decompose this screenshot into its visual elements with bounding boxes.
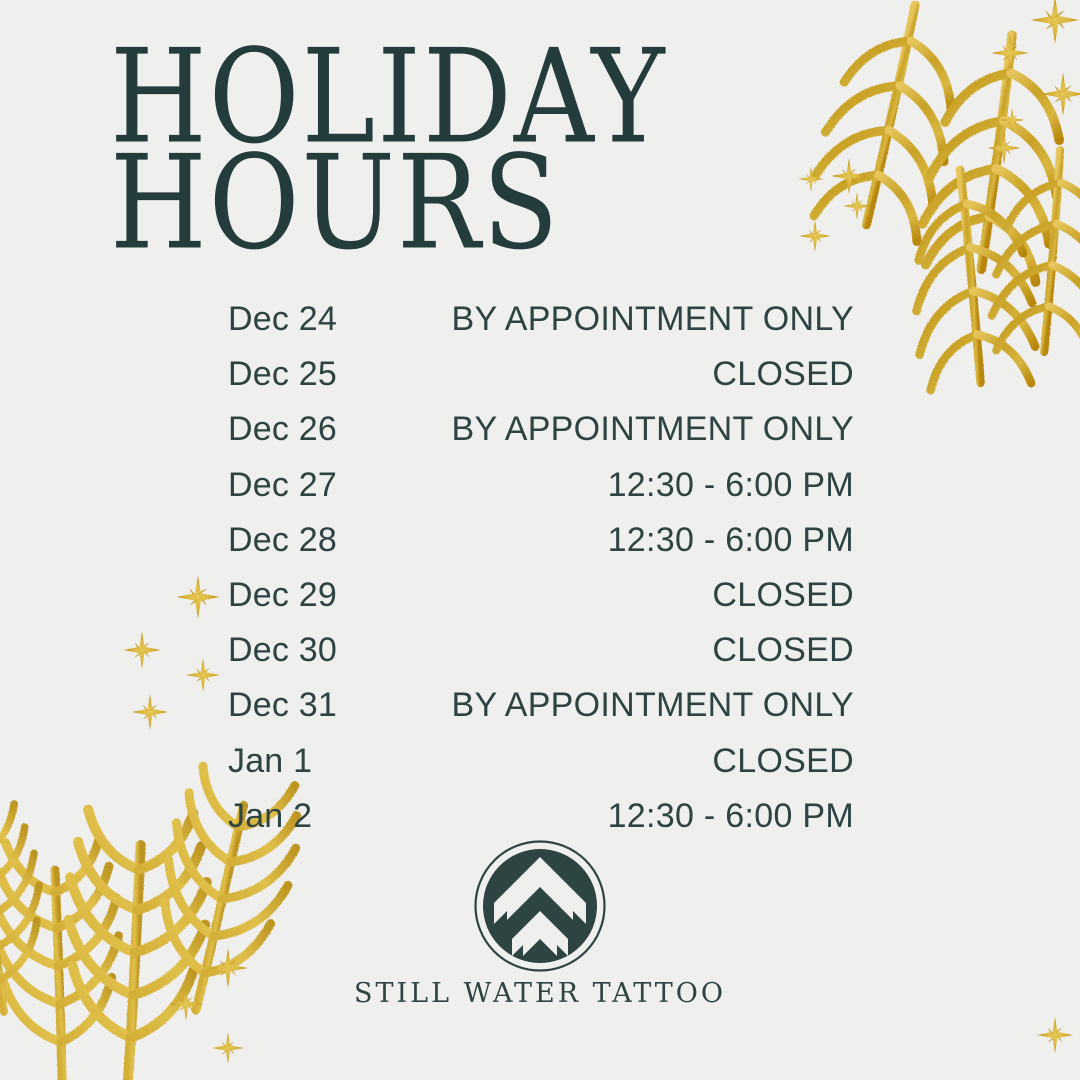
row-date: Dec 31: [228, 686, 337, 725]
row-hours: CLOSED: [712, 355, 854, 394]
row-hours: BY APPOINTMENT ONLY: [452, 686, 854, 725]
table-row: Dec 31 BY APPOINTMENT ONLY: [228, 686, 854, 741]
table-row: Dec 26 BY APPOINTMENT ONLY: [228, 410, 854, 465]
holiday-hours-list: Dec 24 BY APPOINTMENT ONLY Dec 25 CLOSED…: [228, 300, 854, 852]
row-hours: CLOSED: [712, 631, 854, 670]
row-date: Jan 1: [228, 742, 312, 781]
table-row: Dec 24 BY APPOINTMENT ONLY: [228, 300, 854, 355]
table-row: Dec 29 CLOSED: [228, 576, 854, 631]
row-hours: BY APPOINTMENT ONLY: [452, 300, 854, 339]
row-date: Dec 29: [228, 576, 337, 615]
row-date: Dec 30: [228, 631, 337, 670]
table-row: Jan 1 CLOSED: [228, 742, 854, 797]
row-date: Dec 27: [228, 466, 337, 505]
row-hours: CLOSED: [712, 576, 854, 615]
row-date: Dec 28: [228, 521, 337, 560]
table-row: Dec 28 12:30 - 6:00 PM: [228, 521, 854, 576]
table-row: Dec 30 CLOSED: [228, 631, 854, 686]
crossed-arrows-diamond-emblem-icon: [474, 840, 606, 972]
page-title: HOLIDAY HOURS: [110, 36, 672, 248]
row-hours: 12:30 - 6:00 PM: [608, 466, 854, 505]
row-hours: 12:30 - 6:00 PM: [608, 521, 854, 560]
row-date: Jan 2: [228, 797, 312, 836]
title-line-2: HOURS: [110, 142, 667, 265]
row-hours: CLOSED: [712, 742, 854, 781]
table-row: Dec 27 12:30 - 6:00 PM: [228, 466, 854, 521]
brand-wordmark: STILL WATER TATTOO: [0, 978, 1080, 1009]
brand-logo-block: STILL WATER TATTOO: [0, 840, 1080, 1009]
row-date: Dec 24: [228, 300, 337, 339]
table-row: Dec 25 CLOSED: [228, 355, 854, 410]
row-date: Dec 25: [228, 355, 337, 394]
row-hours: BY APPOINTMENT ONLY: [452, 410, 854, 449]
holiday-hours-poster: HOLIDAY HOURS Dec 24 BY APPOINTMENT ONLY…: [0, 0, 1080, 1080]
row-hours: 12:30 - 6:00 PM: [608, 797, 854, 836]
row-date: Dec 26: [228, 410, 337, 449]
